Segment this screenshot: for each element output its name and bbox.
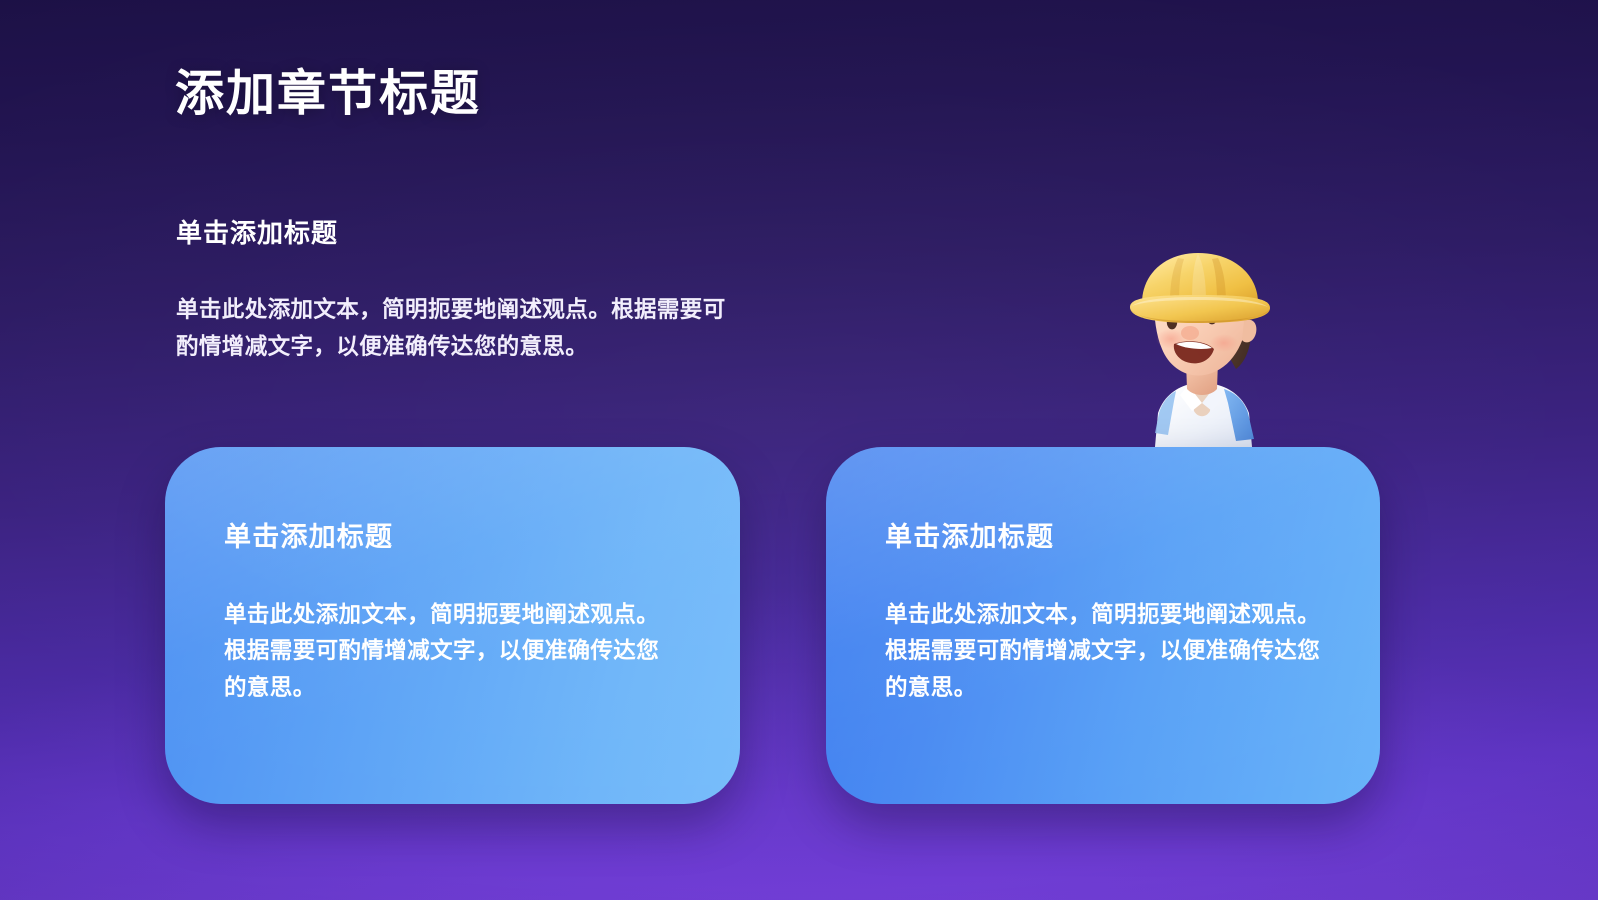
- worker-nose-shape: [1181, 326, 1199, 340]
- hard-hat-icon: [1130, 253, 1270, 323]
- lead-heading[interactable]: 单击添加标题: [176, 213, 338, 250]
- card-left-content: 单击添加标题 单击此处添加文本，简明扼要地阐述观点。根据需要可酌情增减文字，以便…: [224, 515, 696, 706]
- page-title[interactable]: 添加章节标题: [175, 66, 481, 122]
- content-card-right[interactable]: 单击添加标题 单击此处添加文本，简明扼要地阐述观点。根据需要可酌情增减文字，以便…: [826, 447, 1380, 804]
- construction-worker-icon: [1118, 243, 1286, 458]
- slide-canvas: 添加章节标题 单击添加标题 单击此处添加文本，简明扼要地阐述观点。根据需要可酌情…: [0, 0, 1598, 900]
- lead-body-text[interactable]: 单击此处添加文本，简明扼要地阐述观点。根据需要可酌情增减文字，以便准确传达您的意…: [176, 292, 728, 365]
- worker-ear-shape: [1242, 320, 1256, 343]
- card-left-title[interactable]: 单击添加标题: [224, 515, 696, 554]
- card-right-content: 单击添加标题 单击此处添加文本，简明扼要地阐述观点。根据需要可酌情增减文字，以便…: [885, 515, 1336, 706]
- card-left-body[interactable]: 单击此处添加文本，简明扼要地阐述观点。根据需要可酌情增减文字，以便准确传达您的意…: [224, 597, 674, 706]
- worker-cheek-right: [1210, 334, 1238, 352]
- card-right-body[interactable]: 单击此处添加文本，简明扼要地阐述观点。根据需要可酌情增减文字，以便准确传达您的意…: [885, 597, 1335, 706]
- content-card-left[interactable]: 单击添加标题 单击此处添加文本，简明扼要地阐述观点。根据需要可酌情增减文字，以便…: [165, 447, 740, 804]
- card-right-title[interactable]: 单击添加标题: [885, 515, 1336, 554]
